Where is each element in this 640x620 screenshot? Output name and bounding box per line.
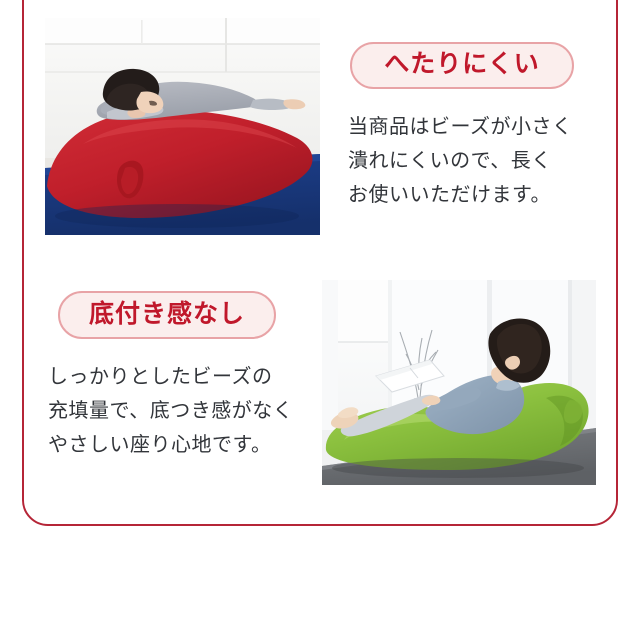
feature-badge-hetari-nikui: へたりにくい [350, 42, 574, 89]
green-beanbag-illustration [322, 280, 596, 485]
feature-description-hetari-nikui: 当商品はビーズが小さく 潰れにくいので、長く お使いいただけます。 [348, 110, 598, 212]
photo-woman-lying-on-red-beanbag [45, 18, 320, 235]
feature-badge-label: へたりにくい [384, 52, 540, 77]
photo-person-reading-on-green-beanbag [322, 280, 596, 485]
red-beanbag-illustration [45, 18, 320, 235]
feature-badge-sokotsuki-kan-nashi: 底付き感なし [58, 291, 276, 339]
feature-badge-label: 底付き感なし [89, 302, 245, 327]
page-root: へたりにくい 当商品はビーズが小さく 潰れにくいので、長く お使いいただけます。… [0, 0, 640, 620]
feature-description-sokotsuki-kan-nashi: しっかりとしたビーズの 充填量で、底つき感がなく やさしい座り心地です。 [48, 360, 323, 462]
